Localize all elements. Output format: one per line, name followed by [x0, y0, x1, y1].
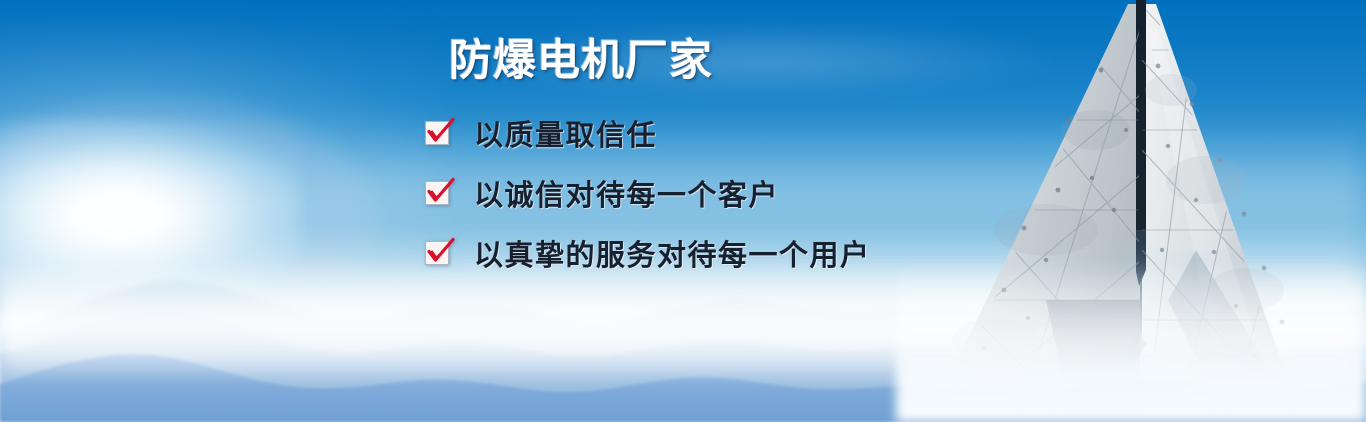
sun-glow-icon: [0, 120, 300, 310]
list-item: 以质量取信任: [424, 103, 871, 163]
list-item: 以诚信对待每一个客户: [424, 163, 871, 223]
red-check-icon: [424, 238, 454, 268]
list-item-label: 以诚信对待每一个客户: [474, 172, 779, 214]
hero-banner: 防爆电机厂家 以质量取信任: [0, 0, 1366, 422]
red-check-icon: [424, 118, 454, 148]
list-item-label: 以质量取信任: [474, 112, 657, 154]
list-item-label: 以真挚的服务对待每一个用户: [474, 232, 871, 274]
feature-list: 以质量取信任 以诚信对待每一个客户: [424, 103, 871, 283]
red-check-icon: [424, 178, 454, 208]
list-item: 以真挚的服务对待每一个用户: [424, 223, 871, 283]
page-title: 防爆电机厂家: [449, 26, 713, 88]
